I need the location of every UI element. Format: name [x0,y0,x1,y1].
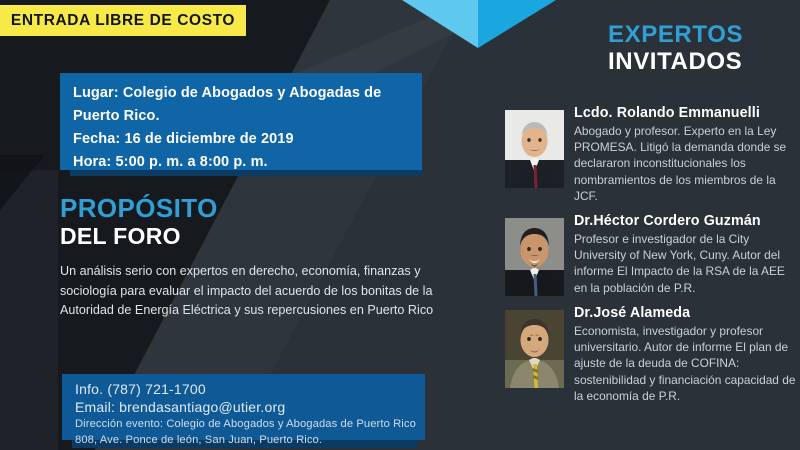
event-detail-date: Fecha: 16 de diciembre de 2019 [73,128,422,151]
portrait-hector-cordero-guzman-photo [505,218,564,296]
expert-item: Lcdo. Rolando Emmanuelli Abogado y profe… [505,104,797,204]
portrait-rolando-emmanuelli-photo [505,110,564,188]
purpose-body-text: Un análisis serio con expertos en derech… [60,262,460,321]
experts-header-line1: EXPERTOS [608,22,743,48]
contact-box: Info. (787) 721-1700 Email: brendasantia… [62,374,425,440]
free-entry-banner: ENTRADA LIBRE DE COSTO [0,5,246,36]
purpose-title-line1: PROPÓSITO [60,194,480,222]
purpose-section: PROPÓSITO DEL FORO Un análisis serio con… [60,194,480,321]
expert-item: Dr.Héctor Cordero Guzmán Profesor e inve… [505,212,797,296]
contact-address-line1: Dirección evento: Colegio de Abogados y … [75,416,425,432]
expert-item: Dr.José Alameda Economista, investigador… [505,304,797,404]
expert-name: Lcdo. Rolando Emmanuelli [574,104,797,122]
contact-phone[interactable]: Info. (787) 721-1700 [75,381,425,399]
expert-bio: Profesor e investigador de la City Unive… [574,231,797,296]
event-detail-venue-line1: Lugar: Colegio de Abogados y Abogadas de [73,82,422,105]
event-details-box: Lugar: Colegio de Abogados y Abogadas de… [60,73,422,170]
expert-name: Dr.Héctor Cordero Guzmán [574,212,797,230]
contact-address-line2: 808, Ave. Ponce de león, San Juan, Puert… [75,432,425,448]
portrait-icon [505,310,564,388]
experts-list: Lcdo. Rolando Emmanuelli Abogado y profe… [505,104,797,412]
experts-header-line2: INVITADOS [608,48,743,75]
expert-bio: Abogado y profesor. Experto en la Ley PR… [574,123,797,204]
expert-bio: Economista, investigador y profesor univ… [574,323,797,404]
expert-name: Dr.José Alameda [574,304,797,322]
contact-email[interactable]: Email: brendasantiago@utier.org [75,399,425,417]
event-detail-time: Hora: 5:00 p. m. a 8:00 p. m. [73,151,422,174]
expert-info: Dr.José Alameda Economista, investigador… [574,304,797,404]
portrait-icon [505,110,564,188]
experts-header: EXPERTOS INVITADOS [608,22,743,75]
purpose-title-line2: DEL FORO [60,223,480,249]
free-entry-banner-label: ENTRADA LIBRE DE COSTO [11,12,235,30]
left-dark-strip [0,170,58,450]
portrait-icon [505,218,564,296]
event-detail-venue-line2: Puerto Rico. [73,105,422,128]
portrait-jose-alameda-photo [505,310,564,388]
expert-info: Dr.Héctor Cordero Guzmán Profesor e inve… [574,212,797,296]
expert-info: Lcdo. Rolando Emmanuelli Abogado y profe… [574,104,797,204]
